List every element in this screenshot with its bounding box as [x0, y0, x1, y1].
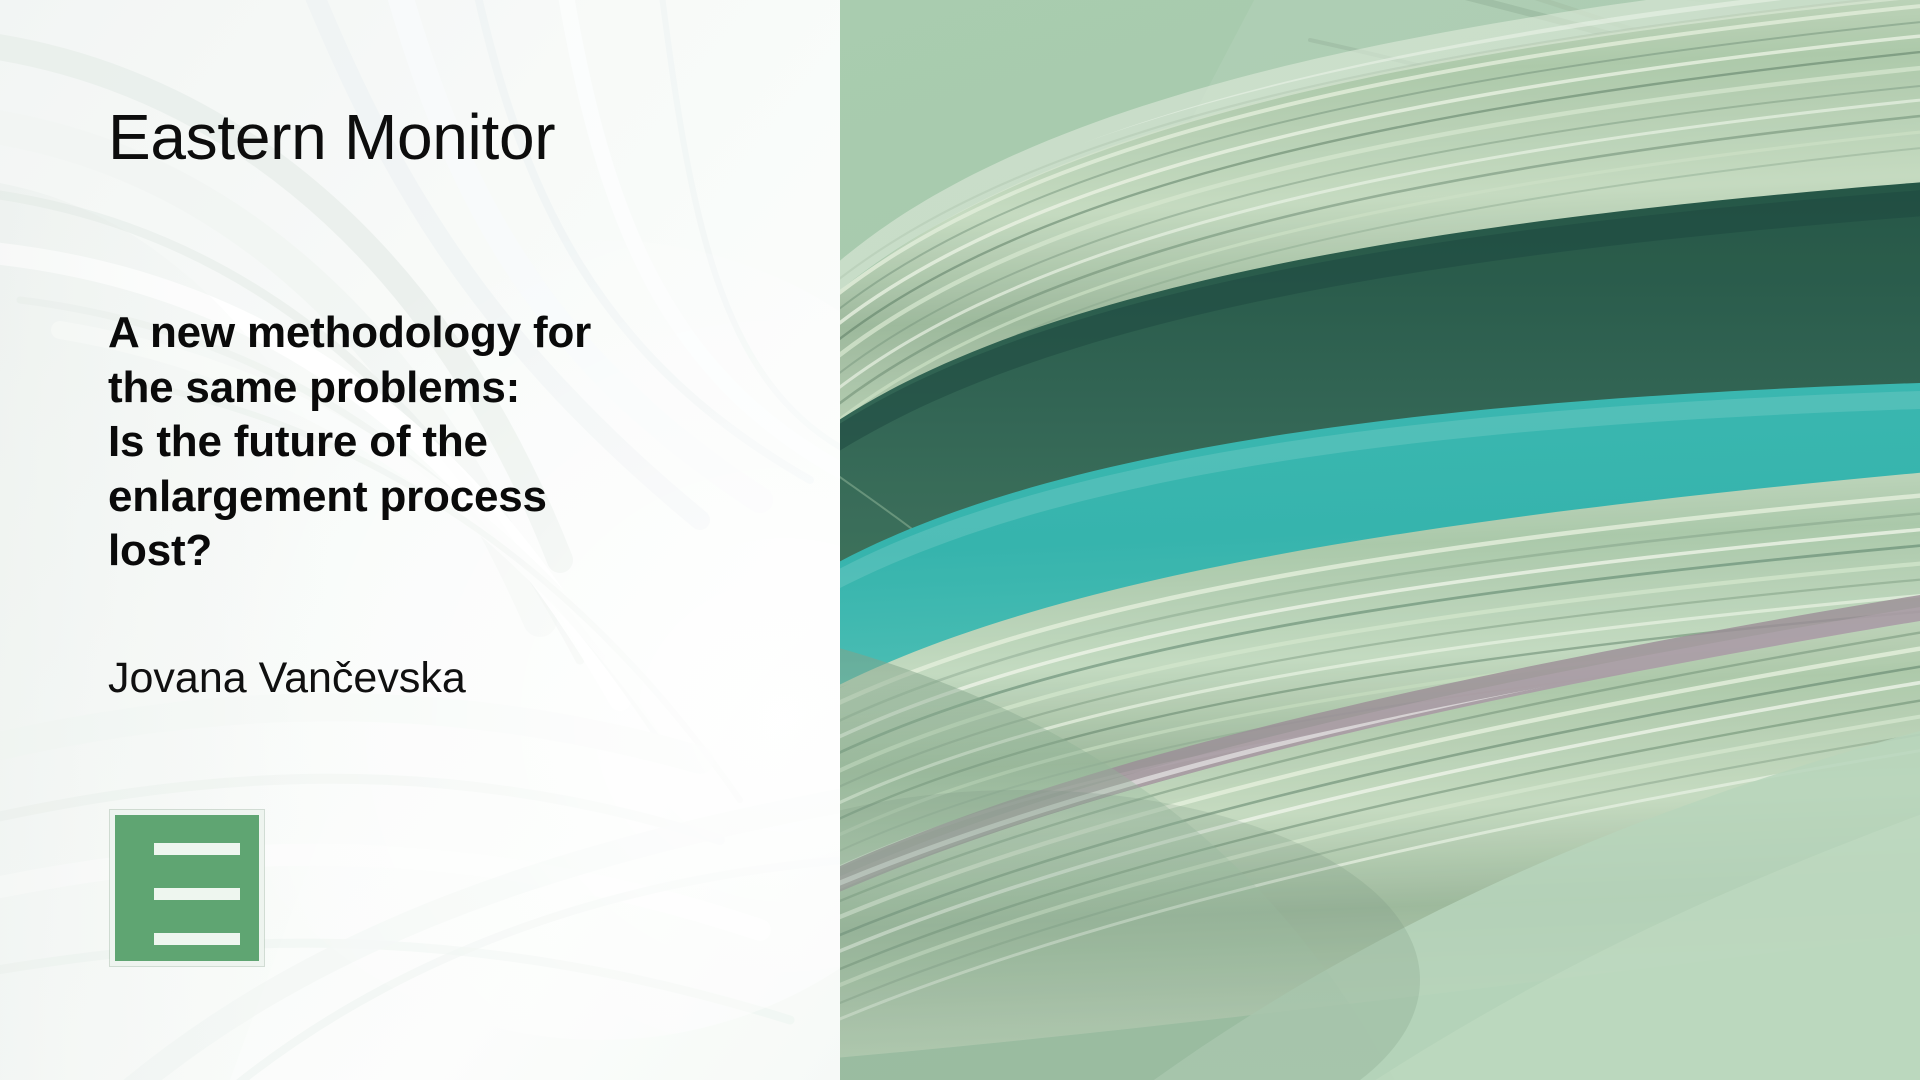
article-title-line-1: A new methodology for [108, 306, 728, 361]
logo-bar-3 [154, 933, 240, 945]
logo-bar-1 [154, 843, 240, 855]
article-title-line-5: lost? [108, 524, 728, 579]
left-text-panel: Eastern Monitor A new methodology for th… [0, 0, 840, 1080]
slide-root: Eastern Monitor A new methodology for th… [0, 0, 1920, 1080]
eastern-monitor-logo-icon [110, 810, 264, 966]
author-name: Jovana Vančevska [108, 654, 466, 703]
article-title-line-4: enlargement process [108, 470, 728, 525]
right-image-panel [840, 0, 1920, 1080]
article-title-line-3: Is the future of the [108, 415, 728, 470]
stacked-paper-photo [840, 0, 1920, 1080]
logo-bar-2 [154, 888, 240, 900]
page-title: Eastern Monitor [108, 104, 555, 171]
left-content-stack: Eastern Monitor A new methodology for th… [0, 0, 840, 1080]
article-title: A new methodology for the same problems:… [108, 306, 728, 579]
article-title-line-2: the same problems: [108, 361, 728, 416]
